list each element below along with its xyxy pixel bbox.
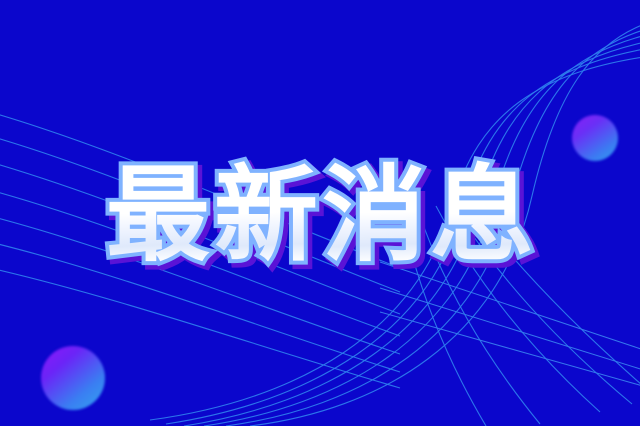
headline-char-3-face: 消 xyxy=(322,154,426,276)
headline-char-4-face: 息 xyxy=(430,154,534,276)
headline-char-4: 息 息 息 xyxy=(430,163,534,267)
headline-char-2-face: 新 xyxy=(214,154,318,276)
news-banner: .ln { fill: none; stroke: #2f7fee; strok… xyxy=(0,0,640,426)
headline-container: 最 最 最 新 新 新 消 消 消 息 息 息 xyxy=(0,152,640,278)
headline-char-2: 新 新 新 xyxy=(214,163,318,267)
headline-char-1: 最 最 最 xyxy=(106,163,210,267)
headline-char-3: 消 消 消 xyxy=(322,163,426,267)
headline-char-1-face: 最 xyxy=(106,154,210,276)
headline-text: 最 最 最 新 新 新 消 消 消 息 息 息 xyxy=(104,163,536,267)
